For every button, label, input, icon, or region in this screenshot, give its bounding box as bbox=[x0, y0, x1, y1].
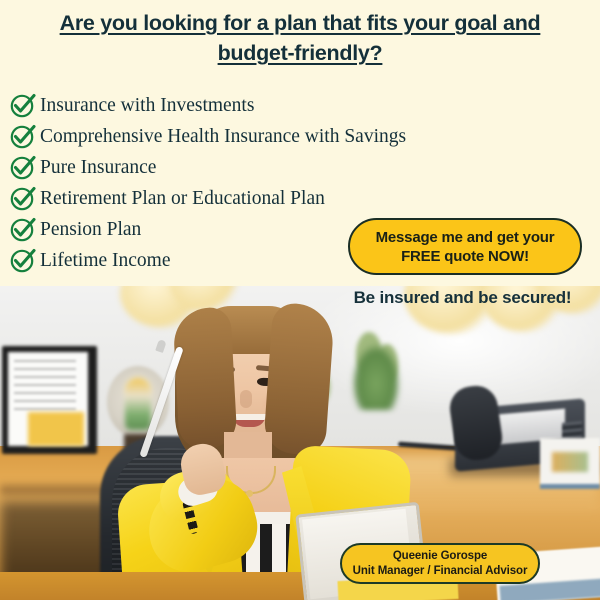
desk-card-artwork bbox=[552, 452, 588, 472]
headline-line-1: Are you looking for a plan that fits you… bbox=[30, 8, 570, 38]
cta-line-2: FREE quote NOW! bbox=[401, 247, 529, 266]
check-circle-icon bbox=[10, 185, 36, 211]
hair-front-left bbox=[172, 307, 237, 450]
list-item: Pure Insurance bbox=[10, 152, 490, 183]
hair-front-right bbox=[263, 302, 335, 456]
advisor-title: Unit Manager / Financial Advisor bbox=[353, 564, 528, 579]
list-item-label: Pension Plan bbox=[40, 220, 141, 240]
advisor-name: Queenie Gorospe bbox=[393, 549, 487, 564]
list-item-label: Retirement Plan or Educational Plan bbox=[40, 189, 325, 209]
list-item: Comprehensive Health Insurance with Savi… bbox=[10, 121, 490, 152]
list-item-label: Insurance with Investments bbox=[40, 96, 254, 116]
advisor-name-badge: Queenie Gorospe Unit Manager / Financial… bbox=[340, 543, 540, 584]
list-item-label: Pure Insurance bbox=[40, 158, 156, 178]
header-panel: Are you looking for a plan that fits you… bbox=[0, 0, 600, 286]
list-item: Insurance with Investments bbox=[10, 90, 490, 121]
check-circle-icon bbox=[10, 123, 36, 149]
page-title: Are you looking for a plan that fits you… bbox=[30, 8, 570, 68]
message-cta-button[interactable]: Message me and get your FREE quote NOW! bbox=[348, 218, 582, 275]
cta-line-1: Message me and get your bbox=[376, 228, 555, 247]
headline-line-2: budget-friendly? bbox=[30, 38, 570, 68]
pen-tip bbox=[155, 339, 166, 353]
list-item-label: Lifetime Income bbox=[40, 251, 170, 271]
list-item-label: Comprehensive Health Insurance with Savi… bbox=[40, 127, 406, 147]
nose bbox=[240, 390, 252, 408]
check-circle-icon bbox=[10, 247, 36, 273]
tagline: Be insured and be secured! bbox=[330, 288, 595, 308]
list-item: Retirement Plan or Educational Plan bbox=[10, 183, 490, 214]
check-circle-icon bbox=[10, 92, 36, 118]
check-circle-icon bbox=[10, 216, 36, 242]
advertisement-poster: Are you looking for a plan that fits you… bbox=[0, 0, 600, 600]
check-circle-icon bbox=[10, 154, 36, 180]
teeth bbox=[232, 414, 266, 420]
